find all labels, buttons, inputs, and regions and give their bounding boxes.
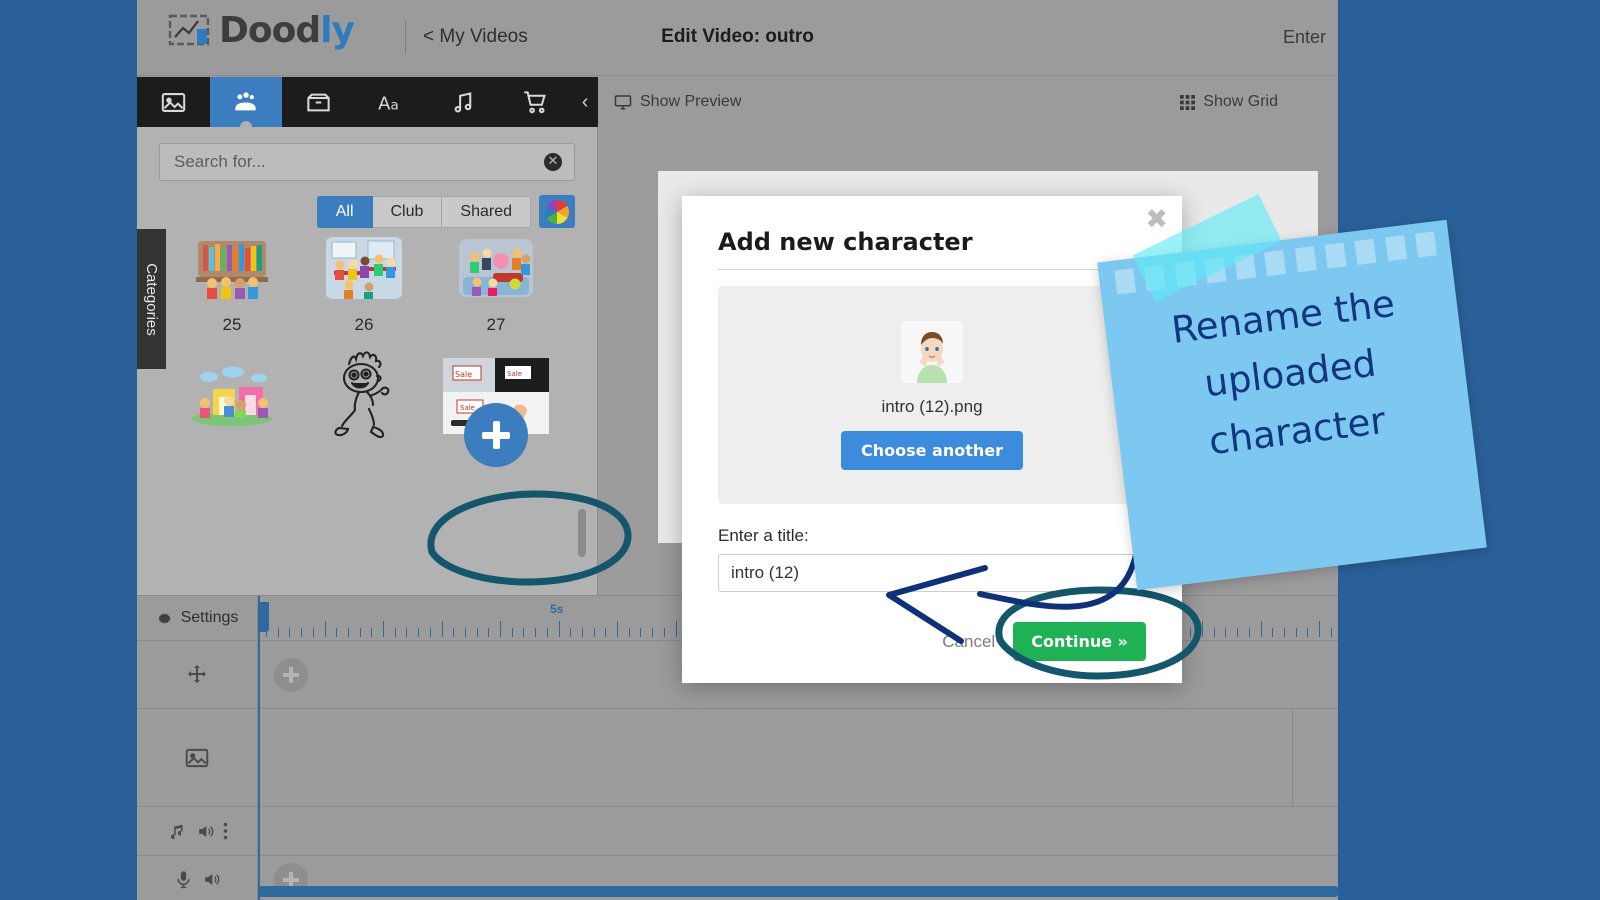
ruler-tick (301, 628, 302, 637)
ruler-tick (605, 628, 606, 637)
ruler-tick (1319, 621, 1320, 637)
ruler-start-label: s (261, 599, 268, 613)
image-track[interactable] (258, 709, 1338, 806)
ruler-tick (535, 628, 536, 637)
choose-another-button[interactable]: Choose another (841, 431, 1023, 470)
svg-text:A: A (378, 93, 391, 114)
ruler-tick (1284, 628, 1285, 637)
ruler-tick (547, 628, 548, 637)
box-icon (305, 89, 332, 116)
asset-thumb-running-boy (323, 357, 405, 435)
timeline-horizontal-scrollbar[interactable] (258, 886, 1338, 897)
image-row-handle[interactable] (137, 709, 258, 806)
ruler-tick (1202, 621, 1203, 637)
asset-item-27[interactable]: 27 (430, 223, 562, 335)
timeline-image-row (137, 709, 1338, 807)
move-icon (185, 663, 209, 687)
asset-thumb-classroom (324, 229, 404, 307)
screenshot-root: Doodly < My Videos Edit Video: outro Ent… (0, 0, 1600, 900)
show-preview-button[interactable]: Show Preview (614, 93, 741, 111)
ruler-tick (278, 628, 279, 637)
asset-grid: 25 (166, 223, 562, 595)
continue-button[interactable]: Continue » (1013, 622, 1146, 661)
ruler-tick (570, 628, 571, 637)
asset-item-26[interactable]: 26 (298, 223, 430, 335)
preview-bar: Show Preview Show Grid (598, 77, 1338, 127)
ruler-tick (313, 628, 314, 637)
ruler-tick (1225, 628, 1226, 637)
asset-thumb-gym (457, 229, 535, 307)
ruler-tick (500, 621, 501, 637)
music-track[interactable] (258, 807, 1338, 855)
page-title: Edit Video: outro (137, 26, 1338, 48)
image-icon (160, 89, 187, 116)
characters-icon (232, 89, 259, 116)
ruler-tick (266, 621, 267, 637)
scene-row-handle[interactable] (137, 641, 258, 708)
ruler-tick (1190, 628, 1191, 637)
person-photo-icon (901, 321, 963, 383)
ruler-tick (348, 628, 349, 637)
ruler-tick (371, 628, 372, 637)
asset-thumb-bookshelf (190, 229, 274, 307)
ruler-tick (430, 628, 431, 637)
ruler-label-5s: 5s (550, 602, 563, 616)
text-tool[interactable]: A a (355, 77, 428, 127)
ruler-tick (1261, 621, 1262, 637)
ruler-tick (582, 628, 583, 637)
show-grid-button[interactable]: Show Grid (1180, 93, 1278, 111)
music-tool[interactable] (427, 77, 500, 127)
gear-icon (156, 610, 173, 627)
show-preview-label: Show Preview (640, 93, 741, 111)
running-boy-doodle-icon (323, 348, 405, 444)
music-note-icon (166, 820, 188, 842)
ruler-tick (512, 628, 513, 637)
timeline-music-row (137, 807, 1338, 856)
bookshelf-kids-icon (190, 235, 274, 301)
ruler-tick (325, 621, 326, 637)
settings-label: Settings (181, 609, 239, 627)
clear-search-icon[interactable]: ✕ (544, 153, 562, 171)
upload-preview-zone[interactable]: intro (12).png Choose another (718, 286, 1146, 504)
asset-thumb-playground (189, 357, 275, 435)
cancel-button[interactable]: Cancel (942, 632, 995, 652)
ruler-tick (442, 621, 443, 637)
ruler-tick (559, 621, 560, 637)
ruler-tick (629, 628, 630, 637)
ruler-tick (640, 628, 641, 637)
more-vertical-icon[interactable] (223, 822, 228, 840)
left-toolbar: A a ‹ (137, 77, 598, 127)
collapse-panel-button[interactable]: ‹ (572, 77, 598, 127)
asset-item-playground[interactable] (166, 351, 298, 443)
ruler-tick (465, 628, 466, 637)
modal-actions: Cancel Continue » (942, 622, 1146, 661)
volume-icon[interactable] (196, 822, 215, 841)
asset-item-25[interactable]: 25 (166, 223, 298, 335)
close-icon[interactable]: ✖ (1145, 206, 1168, 233)
ruler-tick (1272, 628, 1273, 637)
cart-icon (522, 89, 549, 116)
microphone-icon (173, 869, 194, 890)
asset-label-27: 27 (487, 315, 506, 335)
ruler-tick (383, 621, 384, 637)
search-input[interactable] (174, 152, 560, 172)
ruler-tick (676, 621, 677, 637)
music-icon (450, 89, 477, 116)
asset-label-25: 25 (223, 315, 242, 335)
svg-text:a: a (391, 97, 399, 113)
characters-tool[interactable] (210, 77, 283, 127)
add-character-button[interactable] (464, 403, 528, 467)
show-grid-label: Show Grid (1203, 93, 1278, 111)
grid-icon (1180, 95, 1195, 110)
classroom-kids-icon (324, 235, 404, 301)
ruler-tick (523, 628, 524, 637)
search-row: ✕ (137, 127, 597, 181)
uploaded-image-preview (901, 321, 963, 383)
app-header: Doodly < My Videos Edit Video: outro Ent… (137, 0, 1338, 76)
ruler-tick (418, 628, 419, 637)
ruler-tick (617, 621, 618, 637)
ruler-tick (406, 628, 407, 637)
uploaded-filename: intro (12).png (881, 397, 982, 417)
character-title-input[interactable] (718, 554, 1146, 592)
gym-kids-icon (457, 237, 535, 299)
props-tool[interactable] (282, 77, 355, 127)
music-row-handle[interactable] (137, 807, 258, 855)
settings-button[interactable]: Settings (137, 596, 258, 640)
asset-item-running-boy[interactable] (298, 351, 430, 443)
color-wheel-icon (545, 200, 569, 224)
asset-item-photo[interactable]: Sale Sale Sale (430, 351, 562, 443)
asset-label-26: 26 (355, 315, 374, 335)
ruler-tick (1296, 628, 1297, 637)
volume-icon[interactable] (202, 870, 221, 889)
playhead-line (258, 596, 260, 900)
add-scene-button[interactable] (274, 658, 308, 692)
title-field-label: Enter a title: (718, 526, 1146, 546)
ruler-tick (395, 628, 396, 637)
scenes-tool[interactable] (137, 77, 210, 127)
doodly-app-window: Doodly < My Videos Edit Video: outro Ent… (137, 0, 1338, 900)
ruler-tick (1307, 628, 1308, 637)
categories-label: Categories (143, 263, 160, 336)
ruler-tick (1249, 628, 1250, 637)
ruler-tick (1214, 628, 1215, 637)
ruler-tick (594, 628, 595, 637)
header-right-label[interactable]: Enter (1283, 27, 1326, 48)
ruler-tick (336, 628, 337, 637)
text-icon: A a (377, 89, 404, 116)
ruler-tick (360, 628, 361, 637)
playground-kids-icon (189, 365, 275, 427)
character-library-panel: ✕ All Club Shared Categories (137, 127, 598, 595)
modal-title: Add new character (718, 228, 1146, 270)
store-tool[interactable] (500, 77, 573, 127)
ruler-tick (1331, 628, 1332, 637)
ruler-tick (289, 628, 290, 637)
svg-text:Sale: Sale (455, 370, 472, 379)
ruler-tick (477, 628, 478, 637)
search-box[interactable]: ✕ (159, 143, 575, 181)
clip-divider (1292, 709, 1293, 806)
library-scrollbar[interactable] (577, 223, 587, 589)
voice-row-handle[interactable] (137, 856, 258, 900)
svg-text:Sale: Sale (460, 404, 475, 412)
categories-tab[interactable]: Categories (137, 229, 166, 369)
ruler-tick (664, 628, 665, 637)
monitor-icon (614, 93, 632, 111)
image-icon (184, 745, 210, 771)
ruler-tick (1237, 628, 1238, 637)
svg-text:Sale: Sale (507, 370, 522, 378)
add-character-modal: ✖ Add new character (682, 196, 1182, 683)
ruler-tick (453, 628, 454, 637)
ruler-tick (652, 628, 653, 637)
ruler-tick (488, 628, 489, 637)
